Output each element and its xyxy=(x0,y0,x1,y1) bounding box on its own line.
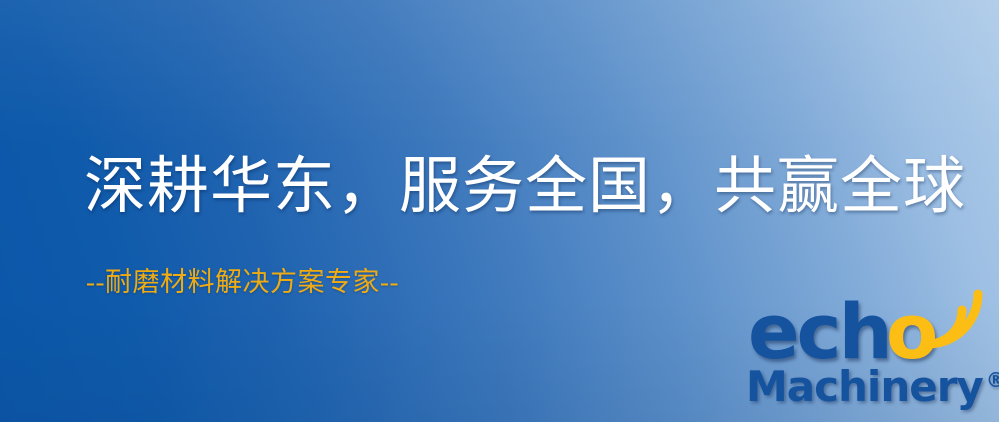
banner-subtitle: --耐磨材料解决方案专家-- xyxy=(86,266,399,298)
registered-trademark-icon: ® xyxy=(986,368,999,392)
logo-subtext-row: Machinery® xyxy=(746,364,999,410)
logo-wordmark-machinery: Machinery xyxy=(746,362,983,411)
logo-wordmark-ech: ech xyxy=(748,294,890,370)
signal-wave-arcs-icon xyxy=(922,288,999,350)
promo-banner: 深耕华东，服务全国，共赢全球 --耐磨材料解决方案专家-- ech o Mach… xyxy=(0,0,999,422)
echo-machinery-logo: ech o Machinery® xyxy=(744,300,996,418)
banner-headline: 深耕华东，服务全国，共赢全球 xyxy=(84,148,966,226)
